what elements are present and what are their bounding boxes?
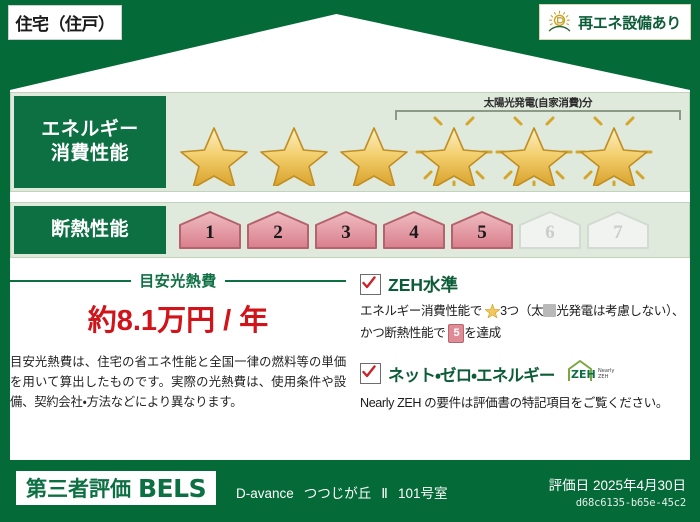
star-icon-solar xyxy=(415,114,493,186)
evaluation-date-value: 2025年4月30日 xyxy=(593,478,686,493)
energy-label-line1: エネルギー xyxy=(41,118,139,142)
lower-section: 目安光熱費 約8.1万円 / 年 目安光熱費は、住宅の省エネ性能と全国一律の燃料… xyxy=(10,270,690,413)
evaluation-metadata: 評価日 2025年4月30日 d68c6135-b65e-45c2 xyxy=(549,474,686,509)
zeh-nearly-logo-icon: ZEH Nearly ZEH xyxy=(565,358,619,389)
star-icon-solar xyxy=(575,114,653,186)
bels-certification-plate: 第三者評価 BELS xyxy=(16,471,216,505)
bels-en-label: BELS xyxy=(138,474,206,503)
energy-label-line2: 消費性能 xyxy=(51,142,129,166)
insulation-level-4: 4 xyxy=(381,209,447,251)
building-phase: Ⅱ xyxy=(381,486,388,501)
svg-text:ZEH: ZEH xyxy=(598,374,609,380)
star-rating xyxy=(175,114,685,186)
star-icon xyxy=(175,114,253,186)
utility-cost-note: 目安光熱費は、住宅の省エネ性能と全国一律の燃料等の単価を用いて算出したものです。… xyxy=(10,353,346,413)
zeh-standard-block: ZEH水準 エネルギー消費性能で 3つ（太光発電は考慮しない）、かつ断熱性能で … xyxy=(360,272,690,343)
inline-insulation-chip: 5 xyxy=(448,324,464,343)
label-title: 建築物省エネ法に基づく 省エネ性能ラベル xyxy=(0,38,700,88)
insulation-level-label: 4 xyxy=(381,222,447,244)
evaluation-date: 評価日 2025年4月30日 xyxy=(549,474,686,494)
net-zero-title: ネット・ゼロ・エネルギー xyxy=(388,362,555,386)
label-footer: 第三者評価 BELS D-avanceつつじが丘Ⅱ101号室 評価日 2025年… xyxy=(0,462,700,522)
energy-rating-area: 太陽光発電(自家消費)分 xyxy=(169,93,689,191)
redacted-char xyxy=(543,304,556,317)
insulation-level-3: 3 xyxy=(313,209,379,251)
standards-section: ZEH水準 エネルギー消費性能で 3つ（太光発電は考慮しない）、かつ断熱性能で … xyxy=(360,270,690,413)
utility-cost-section: 目安光熱費 約8.1万円 / 年 目安光熱費は、住宅の省エネ性能と全国一律の燃料… xyxy=(10,270,346,413)
insulation-level-5: 5 xyxy=(449,209,515,251)
insulation-level-label: 6 xyxy=(517,222,583,244)
insulation-level-6: 6 xyxy=(517,209,583,251)
star-icon xyxy=(255,114,333,186)
insulation-scale: 1 2 3 xyxy=(177,203,683,257)
rule-left xyxy=(10,280,131,282)
evaluation-date-label: 評価日 xyxy=(549,478,590,493)
zeh-standard-heading: ZEH水準 xyxy=(360,272,690,297)
star-icon xyxy=(335,114,413,186)
renewable-badge-label: 再エネ設備あり xyxy=(578,12,681,33)
net-zero-body: Nearly ZEH の要件は評価書の特記項目をご覧ください。 xyxy=(360,394,690,413)
building-identification: D-avanceつつじが丘Ⅱ101号室 xyxy=(236,482,447,502)
zeh-standard-body: エネルギー消費性能で 3つ（太光発電は考慮しない）、かつ断熱性能で 5を達成 xyxy=(360,302,690,343)
sun-icon xyxy=(546,10,573,34)
zeh-body-part1: エネルギー消費性能で xyxy=(360,304,482,318)
evaluation-uid: d68c6135-b65e-45c2 xyxy=(549,497,686,509)
utility-cost-heading-text: 目安光熱費 xyxy=(139,270,217,291)
renewable-equipment-badge: 再エネ設備あり xyxy=(539,4,691,40)
title-subtitle: 建築物省エネ法に基づく xyxy=(0,38,700,54)
bels-jp-label: 第三者評価 xyxy=(26,473,131,503)
svg-text:ZEH: ZEH xyxy=(571,368,596,381)
rule-right xyxy=(225,280,346,282)
check-icon xyxy=(360,363,381,384)
building-name: D-avance xyxy=(236,486,294,501)
insulation-performance-row: 断熱性能 1 xyxy=(10,202,690,258)
insulation-rating-area: 1 2 3 xyxy=(169,203,689,257)
inline-star-icon xyxy=(485,303,500,324)
label-content: エネルギー 消費性能 太陽光発電(自家消費)分 xyxy=(10,92,690,512)
title-main: 省エネ性能ラベル xyxy=(0,57,700,88)
building-room: 101号室 xyxy=(398,486,448,501)
insulation-level-2: 2 xyxy=(245,209,311,251)
building-site: つつじが丘 xyxy=(304,486,372,501)
solar-generation-note: 太陽光発電(自家消費)分 xyxy=(391,95,685,110)
energy-performance-label: エネルギー 消費性能 xyxy=(14,96,166,188)
zeh-body-part2: 3つ（太 xyxy=(500,304,543,318)
check-icon xyxy=(360,274,381,295)
energy-performance-row: エネルギー 消費性能 太陽光発電(自家消費)分 xyxy=(10,92,690,192)
net-zero-heading: ネット・ゼロ・エネルギー ZEH Nearly ZEH xyxy=(360,358,690,389)
insulation-level-label: 1 xyxy=(177,222,243,244)
utility-cost-value: 約8.1万円 / 年 xyxy=(10,297,346,339)
utility-cost-heading: 目安光熱費 xyxy=(10,270,346,291)
insulation-level-label: 2 xyxy=(245,222,311,244)
insulation-level-label: 5 xyxy=(449,222,515,244)
net-zero-energy-block: ネット・ゼロ・エネルギー ZEH Nearly ZEH Nearly ZEH の… xyxy=(360,358,690,413)
insulation-level-7: 7 xyxy=(585,209,651,251)
building-type-tag: 住宅（住戸） xyxy=(8,5,122,40)
insulation-level-label: 3 xyxy=(313,222,379,244)
insulation-label-text: 断熱性能 xyxy=(51,218,129,242)
star-icon-solar xyxy=(495,114,573,186)
zeh-standard-title: ZEH水準 xyxy=(388,272,458,297)
zeh-body-part4: を達成 xyxy=(464,326,501,340)
insulation-performance-label: 断熱性能 xyxy=(14,206,166,254)
insulation-level-1: 1 xyxy=(177,209,243,251)
insulation-level-label: 7 xyxy=(585,222,651,244)
energy-performance-label: 住宅（住戸） 再エネ設備あり xyxy=(0,0,700,522)
